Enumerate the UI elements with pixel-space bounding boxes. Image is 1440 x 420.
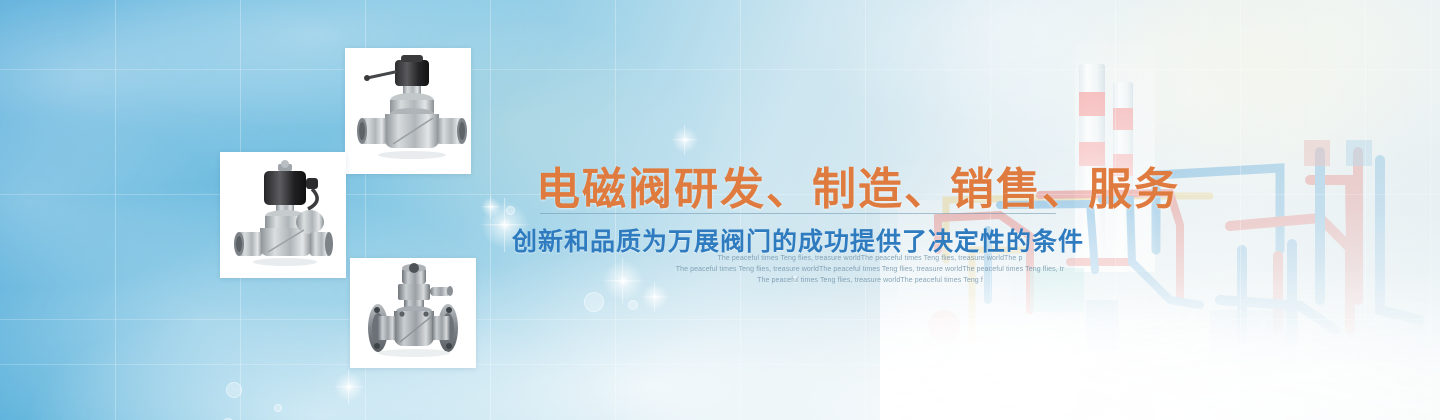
sparkle-icon (670, 125, 700, 155)
headline-divider (540, 213, 1056, 214)
product-card-solenoid-valve-threaded-upright-coil[interactable] (220, 152, 346, 278)
sparkle-icon (332, 370, 366, 404)
bokeh-circle (628, 300, 638, 310)
bokeh-circle (274, 404, 282, 412)
body-copy-line: The peaceful times Teng flies, treasure … (620, 275, 1120, 286)
hero-banner: 电磁阀研发、制造、销售、服务 创新和品质为万展阀门的成功提供了决定性的条件 Th… (0, 0, 1440, 420)
body-copy-line: The peaceful times Teng flies, treasure … (620, 253, 1120, 264)
sparkle-icon (480, 196, 502, 218)
bokeh-circle (584, 292, 604, 312)
product-card-solenoid-valve-flanged[interactable] (350, 258, 476, 368)
banner-body-copy: The peaceful times Teng flies, treasure … (620, 253, 1120, 286)
bokeh-circle (506, 206, 515, 215)
product-card-solenoid-valve-threaded-black-coil[interactable] (345, 48, 471, 174)
sparkle-icon (640, 282, 670, 312)
banner-headline: 电磁阀研发、制造、销售、服务 (536, 153, 1180, 217)
body-copy-line: The peaceful times Teng flies, treasure … (620, 264, 1120, 275)
bokeh-circle (226, 382, 242, 398)
